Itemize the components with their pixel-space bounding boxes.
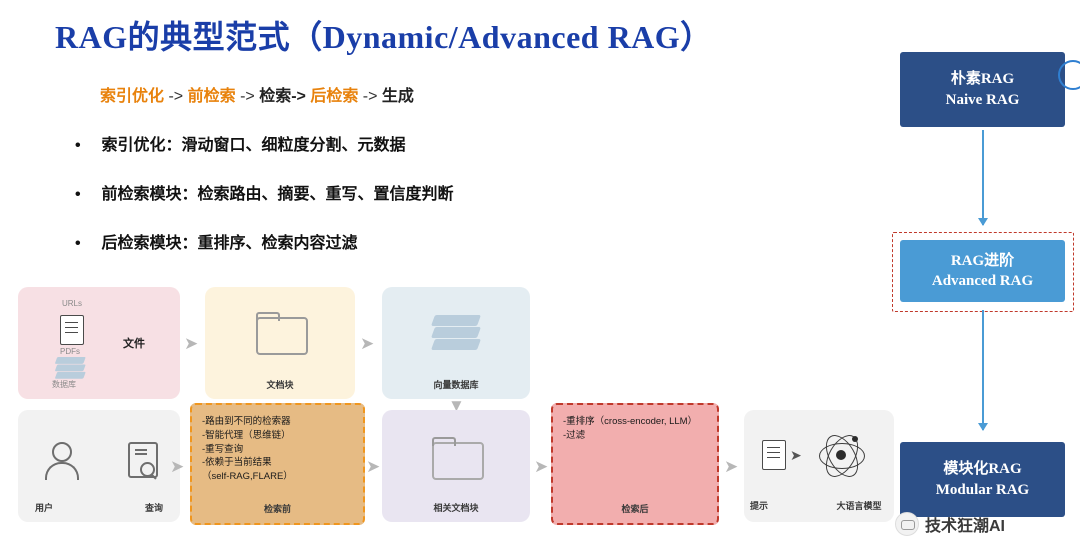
llm-atom-icon	[816, 432, 866, 478]
pre-retrieval-label: 检索前	[192, 502, 363, 515]
paradigm-modular-cn: 模块化RAG	[943, 459, 1021, 479]
bullet-item-2: • 前检索模块：检索路由、摘要、重写、置信度判断	[75, 180, 453, 204]
arrow-prompt-to-llm: ➤	[790, 448, 802, 462]
rag-pipeline-diagram: URLs PDFs 数据库 文件 ➤ 文档块 ➤ 向量数据库 ▼	[0, 275, 900, 550]
arrow-user-to-pre: ➤	[170, 458, 184, 475]
slide-root: RAG的典型范式（Dynamic/Advanced RAG） 索引优化 -> 前…	[0, 0, 1080, 557]
watermark: 技术狂潮AI	[895, 512, 1005, 536]
diagram-node-user-query: 用户 查询	[18, 410, 180, 522]
person-body-icon	[45, 462, 79, 480]
flow-step-pre-retrieval: 前检索	[188, 88, 236, 105]
flow-arrow-1: ->	[168, 88, 183, 105]
bullet-text: 索引优化：滑动窗口、细粒度分割、元数据	[101, 137, 405, 154]
bullet-item-3: • 后检索模块：重排序、检索内容过滤	[75, 229, 357, 253]
folder-icon	[256, 317, 308, 355]
diagram-node-pre-retrieval: -路由到不同的检索器 -智能代理（思维链） -重写查询 -依赖于当前结果 （se…	[190, 403, 365, 525]
diagram-node-doc-chunks: 文档块	[205, 287, 355, 399]
prompt-icon	[762, 440, 786, 470]
flow-arrow-3: ->	[363, 88, 378, 105]
paradigm-modular-rag[interactable]: 模块化RAG Modular RAG	[900, 442, 1065, 517]
doc-chunks-label: 文档块	[205, 378, 355, 391]
post-retrieval-text: -重排序（cross-encoder, LLM） -过滤	[563, 415, 711, 443]
diagram-node-relevant-chunks: 相关文档块	[382, 410, 530, 522]
watermark-text: 技术狂潮AI	[925, 512, 1005, 536]
relevant-chunks-label: 相关文档块	[382, 501, 530, 514]
vector-db-label: 向量数据库	[382, 378, 530, 391]
flow-step-index-optimization: 索引优化	[100, 88, 164, 105]
arrow-naive-to-advanced	[982, 130, 984, 225]
search-icon	[140, 462, 155, 477]
bullet-text: 后检索模块：重排序、检索内容过滤	[101, 235, 357, 252]
bullet-text: 前检索模块：检索路由、摘要、重写、置信度判断	[101, 186, 453, 203]
pre-retrieval-text: -路由到不同的检索器 -智能代理（思维链） -重写查询 -依赖于当前结果 （se…	[202, 415, 357, 484]
diagram-node-vector-db: 向量数据库	[382, 287, 530, 399]
database-stack-icon	[56, 357, 85, 378]
paradigm-modular-en: Modular RAG	[936, 480, 1029, 500]
decorative-circle-icon	[1058, 60, 1080, 90]
page-title: RAG的典型范式（Dynamic/Advanced RAG）	[55, 12, 713, 58]
paradigm-naive-rag[interactable]: 朴素RAG Naive RAG	[900, 52, 1065, 127]
flow-step-retrieval: 检索->	[259, 88, 306, 105]
diagram-node-source-files: URLs PDFs 数据库 文件	[18, 287, 180, 399]
person-head-icon	[52, 442, 72, 462]
source-label-database: 数据库	[52, 379, 76, 390]
document-icon	[60, 315, 84, 345]
arrow-source-to-docs: ➤	[184, 335, 198, 352]
rag-paradigm-column: 朴素RAG Naive RAG RAG进阶 Advanced RAG 模块化RA…	[900, 0, 1080, 557]
flow-summary-line: 索引优化 -> 前检索 -> 检索-> 后检索 -> 生成	[100, 82, 414, 106]
paradigm-advanced-en: Advanced RAG	[932, 271, 1033, 291]
watermark-logo-icon	[895, 512, 919, 536]
relevant-folder-icon	[432, 442, 484, 480]
paradigm-advanced-rag[interactable]: RAG进阶 Advanced RAG	[900, 240, 1065, 302]
arrow-pre-to-relevant: ➤	[366, 458, 380, 475]
flow-step-generation: 生成	[382, 88, 414, 105]
bullet-marker: •	[75, 137, 97, 155]
arrow-post-to-llm: ➤	[724, 458, 738, 475]
source-card-label: 文件	[123, 335, 145, 351]
bullet-item-1: • 索引优化：滑动窗口、细粒度分割、元数据	[75, 131, 405, 155]
diagram-node-llm: ➤ 提示 大语言模型	[744, 410, 894, 522]
paradigm-advanced-cn: RAG进阶	[951, 251, 1014, 271]
vector-layers-icon	[433, 315, 479, 349]
arrow-docs-to-vector: ➤	[360, 335, 374, 352]
source-label-urls: URLs	[62, 299, 82, 308]
paradigm-naive-en: Naive RAG	[946, 90, 1020, 110]
bullet-marker: •	[75, 186, 97, 204]
arrow-relevant-to-post: ➤	[534, 458, 548, 475]
bullet-marker: •	[75, 235, 97, 253]
source-label-pdfs: PDFs	[60, 347, 80, 356]
flow-step-post-retrieval: 后检索	[310, 88, 358, 105]
flow-arrow-2: ->	[240, 88, 255, 105]
paradigm-naive-cn: 朴素RAG	[951, 69, 1014, 89]
arrow-advanced-to-modular	[982, 310, 984, 430]
